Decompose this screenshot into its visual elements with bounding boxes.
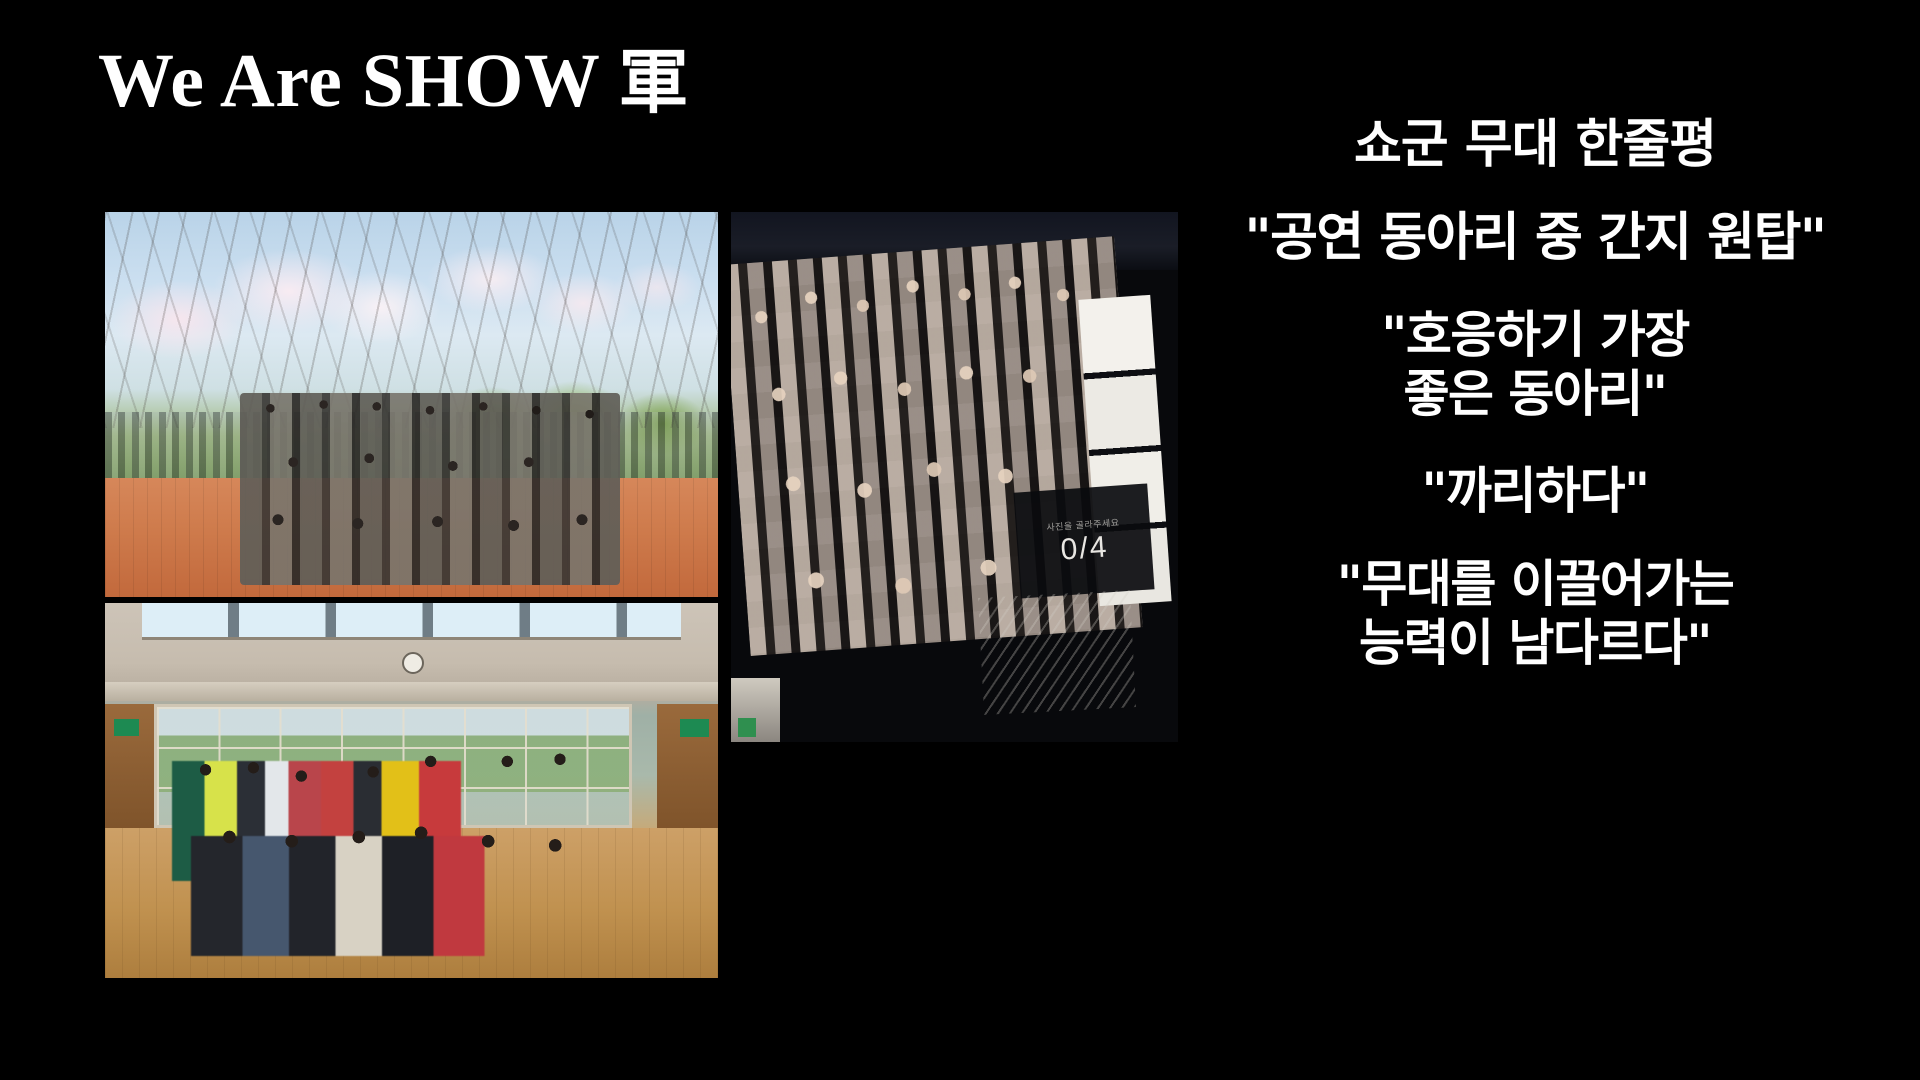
photo-cherry-blossom-content bbox=[105, 212, 718, 597]
review-quote-3: "까리하다" bbox=[1155, 462, 1915, 521]
gym-wall-beam bbox=[105, 682, 718, 701]
photo-collage-screen: 사진을 골라주세요 0/4 bbox=[731, 212, 1178, 742]
gym-wall-clock bbox=[402, 652, 424, 674]
review-quote-2: "호응하기 가장 좋은 동아리" bbox=[1155, 306, 1915, 424]
screen-glare-reflection bbox=[978, 590, 1136, 714]
gym-exit-sign-right bbox=[680, 719, 709, 736]
gym-clerestory-windows bbox=[142, 603, 681, 640]
review-quote-1: "공연 동아리 중 간지 원탑" bbox=[1155, 208, 1915, 269]
photo-gymnasium-group bbox=[105, 603, 718, 978]
screen-green-marker bbox=[738, 718, 756, 737]
reviews-heading: 쇼군 무대 한줄평 bbox=[1155, 116, 1915, 174]
page-title: We Are SHOW 軍 bbox=[98, 42, 689, 122]
screen-counter-label: 사진을 골라주세요 bbox=[1046, 515, 1120, 533]
reviews-column: 쇼군 무대 한줄평 "공연 동아리 중 간지 원탑" "호응하기 가장 좋은 동… bbox=[1155, 116, 1915, 673]
blossom-student-heads bbox=[240, 393, 620, 586]
photo-collage-screen-content: 사진을 골라주세요 0/4 bbox=[731, 212, 1178, 742]
photo-gymnasium-content bbox=[105, 603, 718, 978]
page-title-latin: We Are SHOW bbox=[98, 39, 618, 123]
screen-selection-counter: 사진을 골라주세요 0/4 bbox=[1014, 483, 1155, 598]
presentation-slide: We Are SHOW 軍 bbox=[0, 0, 1920, 1080]
gym-student-heads bbox=[172, 753, 650, 963]
review-quote-4: "무대를 이끌어가는 능력이 남다르다" bbox=[1155, 555, 1915, 673]
gym-exit-sign-left bbox=[114, 719, 140, 736]
page-title-cjk: 軍 bbox=[618, 41, 689, 123]
photo-cherry-blossom-group bbox=[105, 212, 718, 597]
screen-counter-value: 0/4 bbox=[1060, 532, 1110, 565]
